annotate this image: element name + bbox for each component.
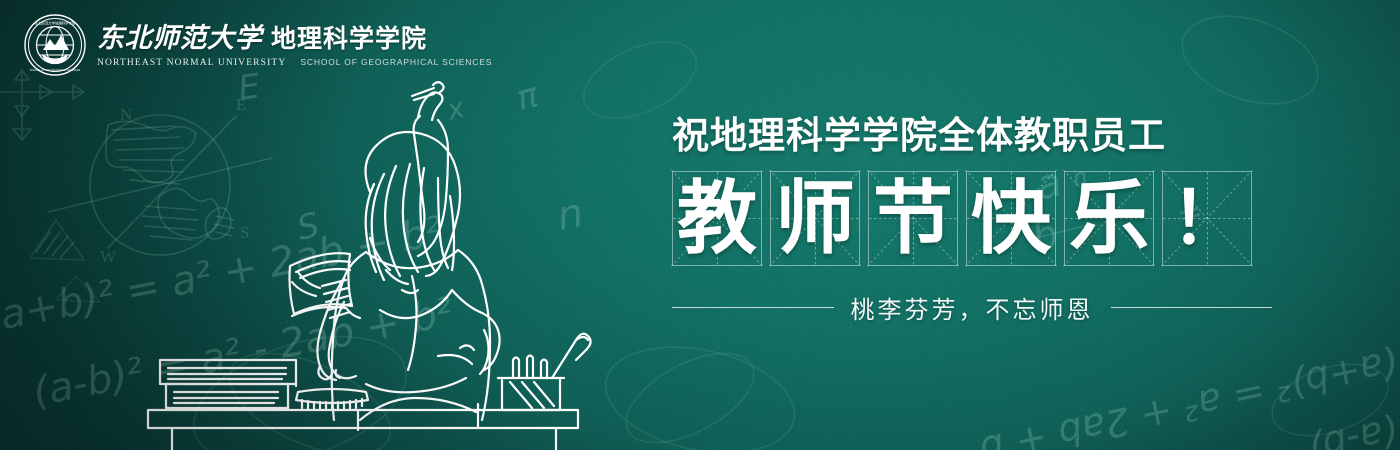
- logo-english-row: NORTHEAST NORMAL UNIVERSITY SCHOOL OF GE…: [97, 57, 492, 68]
- tagline-rule-right: [1111, 307, 1273, 308]
- teachers-day-banner: N E W S: [0, 0, 1400, 450]
- svg-text:东北师范大学地理科学学院: 东北师范大学地理科学学院: [35, 21, 76, 26]
- school-logo: 东北师范大学地理科学学院 SCHOOL OF GEOGRAPHICAL SCIE…: [24, 14, 492, 76]
- tianzige-char: 教: [677, 174, 757, 262]
- tagline-rule-left: [672, 307, 834, 308]
- tagline-row: 桃李芬芳，不忘师恩: [672, 290, 1272, 325]
- greeting-block: 祝地理科学学院全体教职员工 教 师: [672, 116, 1292, 325]
- open-book: [290, 253, 361, 318]
- tianzige-char: 师: [775, 174, 855, 262]
- tagline-text: 桃李芬芳，不忘师恩: [851, 290, 1094, 325]
- book-stack: [160, 360, 296, 410]
- tianzige-cell: 乐: [1064, 171, 1154, 266]
- logo-school-en: SCHOOL OF GEOGRAPHICAL SCIENCES: [300, 57, 492, 67]
- logo-school-cn: 地理科学学院: [271, 26, 427, 51]
- logo-university-en: NORTHEAST NORMAL UNIVERSITY: [97, 58, 286, 68]
- greeting-headline: 祝地理科学学院全体教职员工: [672, 116, 1292, 156]
- tianzige-char: 节: [873, 174, 953, 262]
- tianzige-cell: 教: [672, 171, 762, 266]
- nenu-seal-icon: 东北师范大学地理科学学院 SCHOOL OF GEOGRAPHICAL SCIE…: [24, 14, 86, 76]
- tianzige-char: 乐: [1069, 174, 1149, 262]
- pen-holder: [498, 334, 591, 410]
- logo-wordmark: 东北师范大学 地理科学学院 NORTHEAST NORMAL UNIVERSIT…: [97, 23, 492, 68]
- svg-text:SCHOOL OF GEOGRAPHICAL SCIENCE: SCHOOL OF GEOGRAPHICAL SCIENCES: [30, 68, 81, 72]
- tianzige-cell: ！: [1162, 171, 1252, 266]
- tianzige-cell: 节: [868, 171, 958, 266]
- tianzige-cell: 师: [770, 171, 860, 266]
- teacher-figure: [292, 82, 500, 430]
- logo-chinese-row: 东北师范大学 地理科学学院: [97, 25, 492, 52]
- tianzige-cell: 快: [966, 171, 1056, 266]
- tianzige-word: 教 师 节 快: [672, 171, 1292, 266]
- logo-university-cn: 东北师范大学: [97, 25, 262, 52]
- desk: [148, 410, 578, 450]
- tianzige-char: 快: [971, 174, 1051, 262]
- tianzige-char: ！: [1171, 174, 1243, 262]
